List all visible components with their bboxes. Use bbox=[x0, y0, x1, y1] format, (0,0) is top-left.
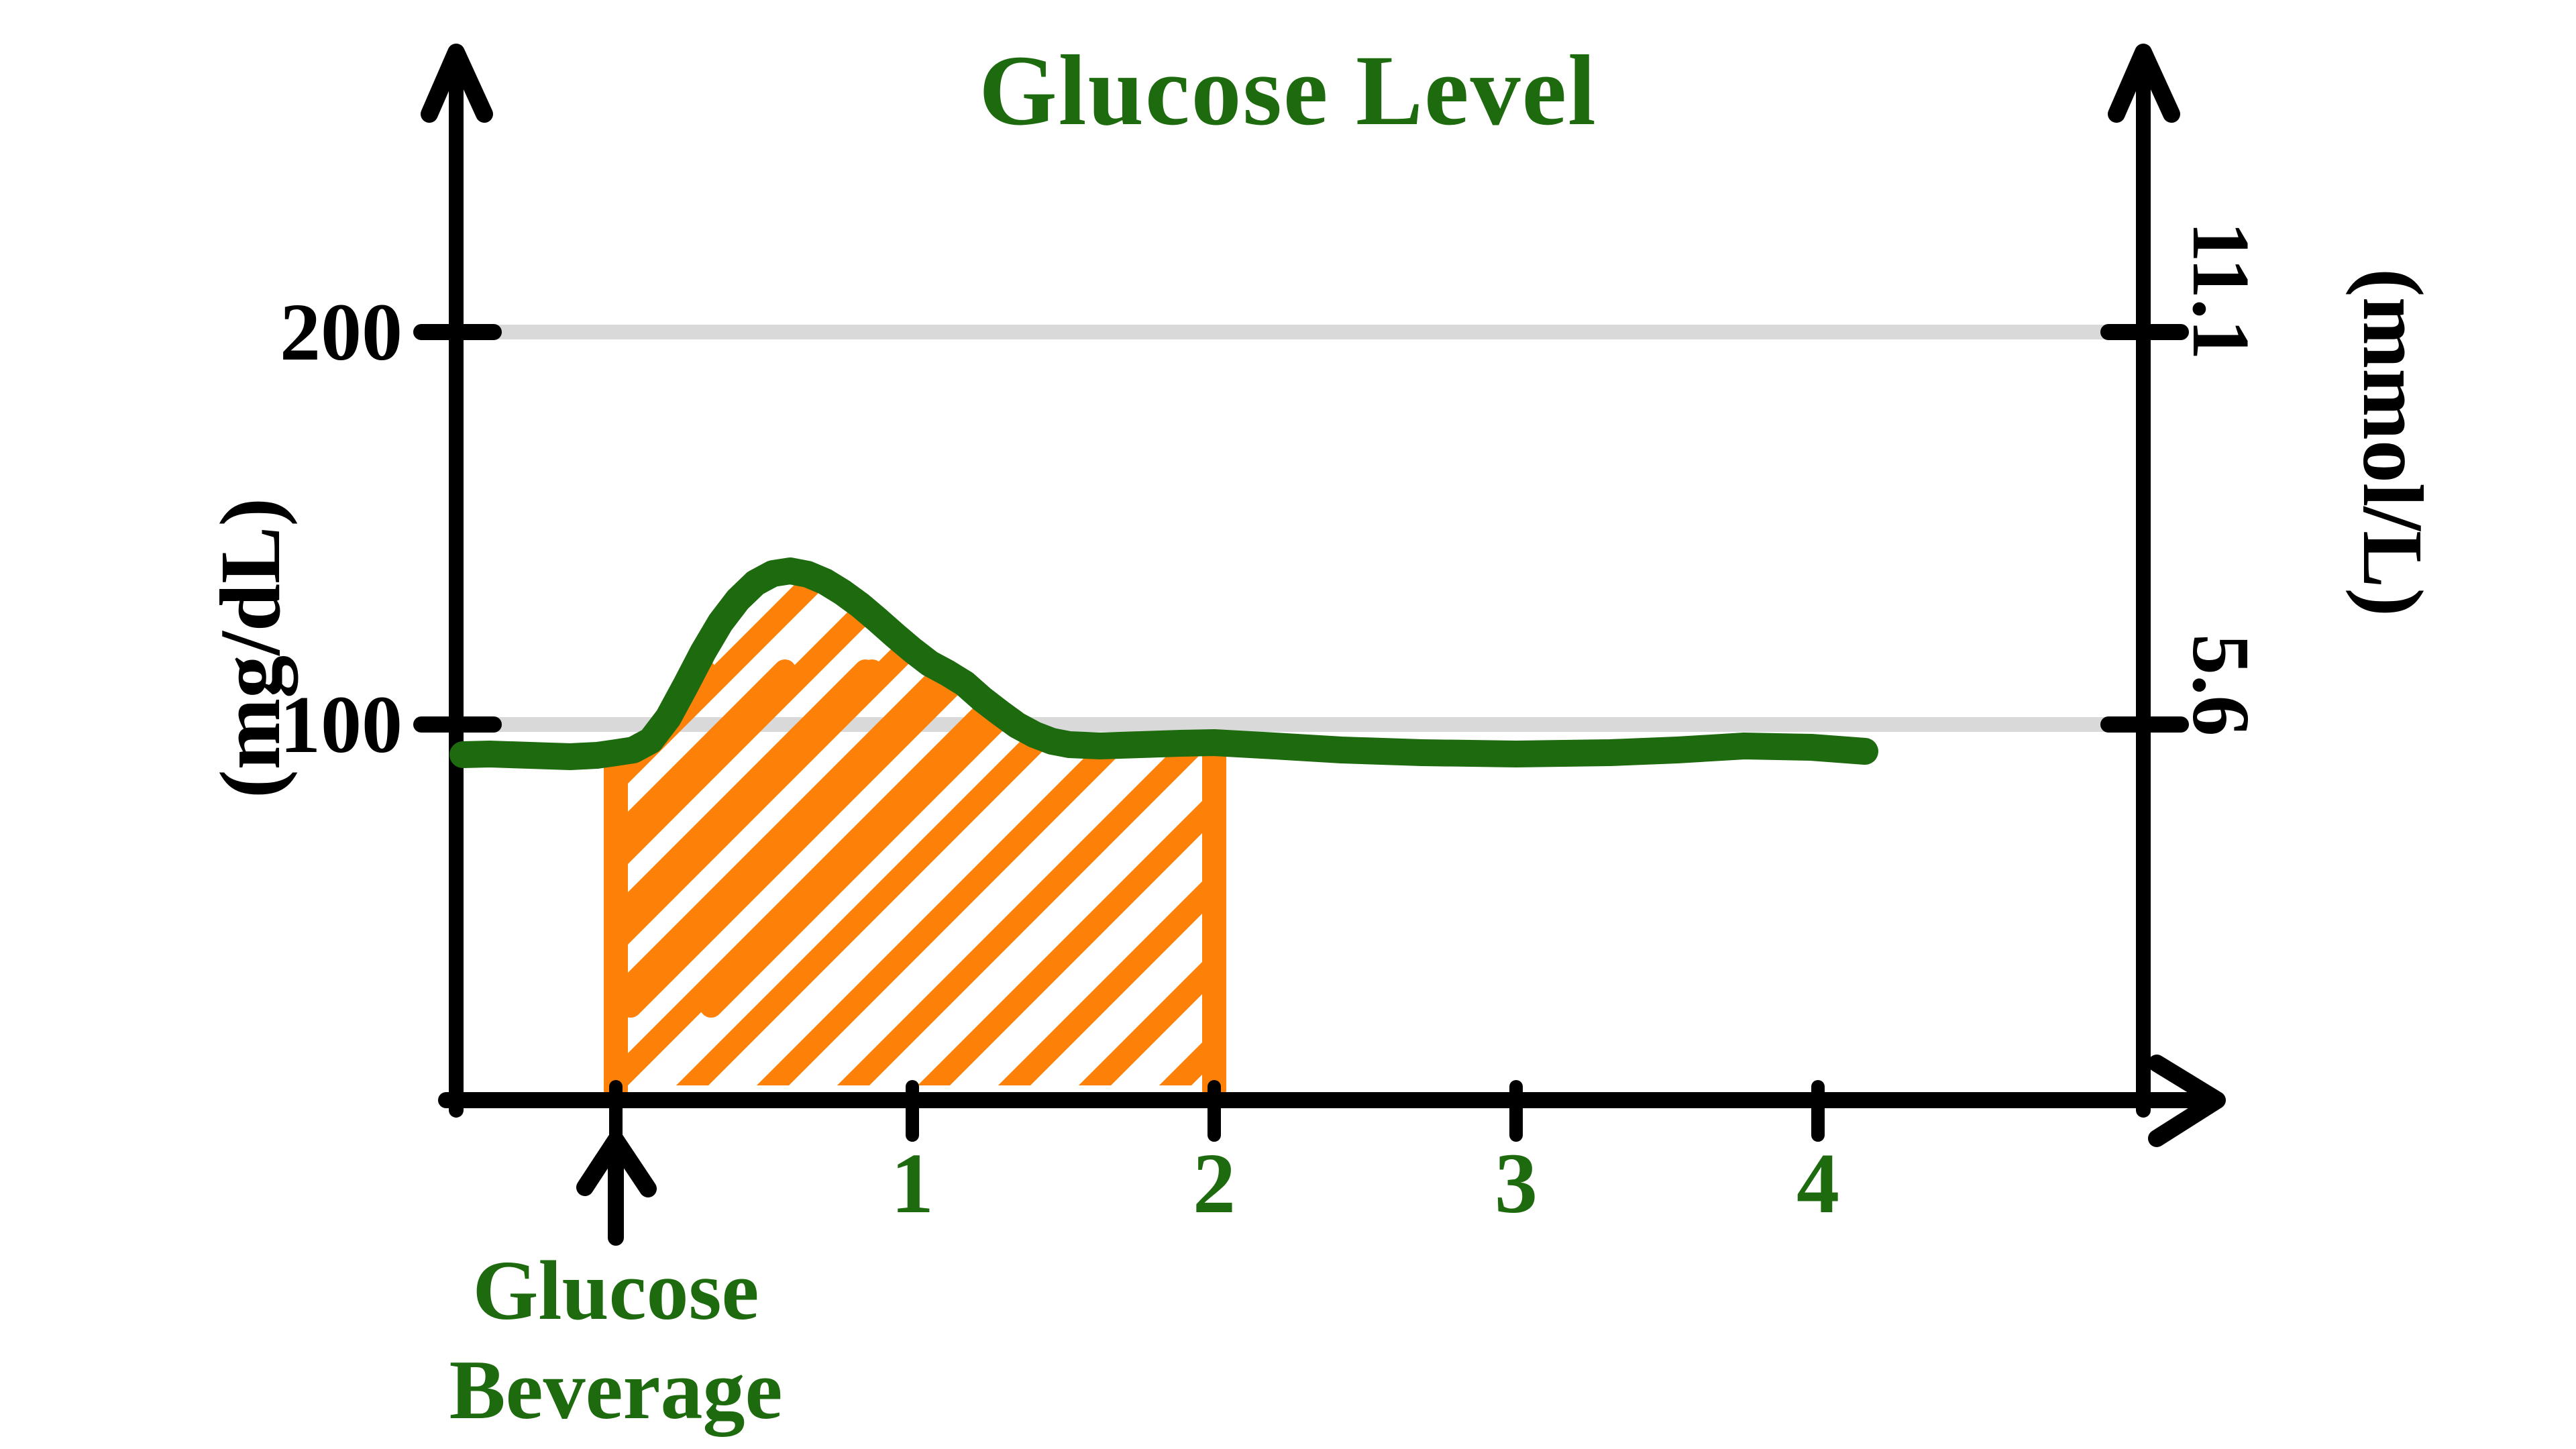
x-tick-label-2: 2 bbox=[1161, 1140, 1268, 1226]
chart-canvas: Glucose Level (mg/dL) (mmol/L) 200 100 1… bbox=[0, 0, 2576, 1449]
x-tick-label-4: 4 bbox=[1764, 1140, 1872, 1226]
right-tick-label-5-6: 5.6 bbox=[2176, 634, 2266, 737]
right-tick-label-11-1-wrap: 11.1 bbox=[2173, 221, 2267, 360]
x-tick-label-3: 3 bbox=[1462, 1140, 1570, 1226]
x-tick-label-1: 1 bbox=[859, 1140, 966, 1226]
annotation-glucose-label: Glucose bbox=[381, 1249, 851, 1334]
right-tick-label-11-1: 11.1 bbox=[2176, 221, 2266, 360]
left-tick-label-200: 200 bbox=[188, 292, 402, 374]
left-y-axis bbox=[421, 52, 494, 1110]
right-axis-title: (mmol/L) bbox=[2345, 268, 2440, 616]
right-y-axis bbox=[2108, 52, 2181, 1110]
right-axis-title-wrap: (mmol/L) bbox=[2343, 268, 2442, 616]
annotation-beverage-label: Beverage bbox=[381, 1348, 851, 1433]
right-tick-label-5-6-wrap: 5.6 bbox=[2173, 634, 2267, 737]
page-title: Glucose Level bbox=[0, 40, 2576, 141]
left-tick-label-100: 100 bbox=[188, 684, 402, 766]
glucose-beverage-arrow-icon bbox=[585, 1140, 648, 1238]
